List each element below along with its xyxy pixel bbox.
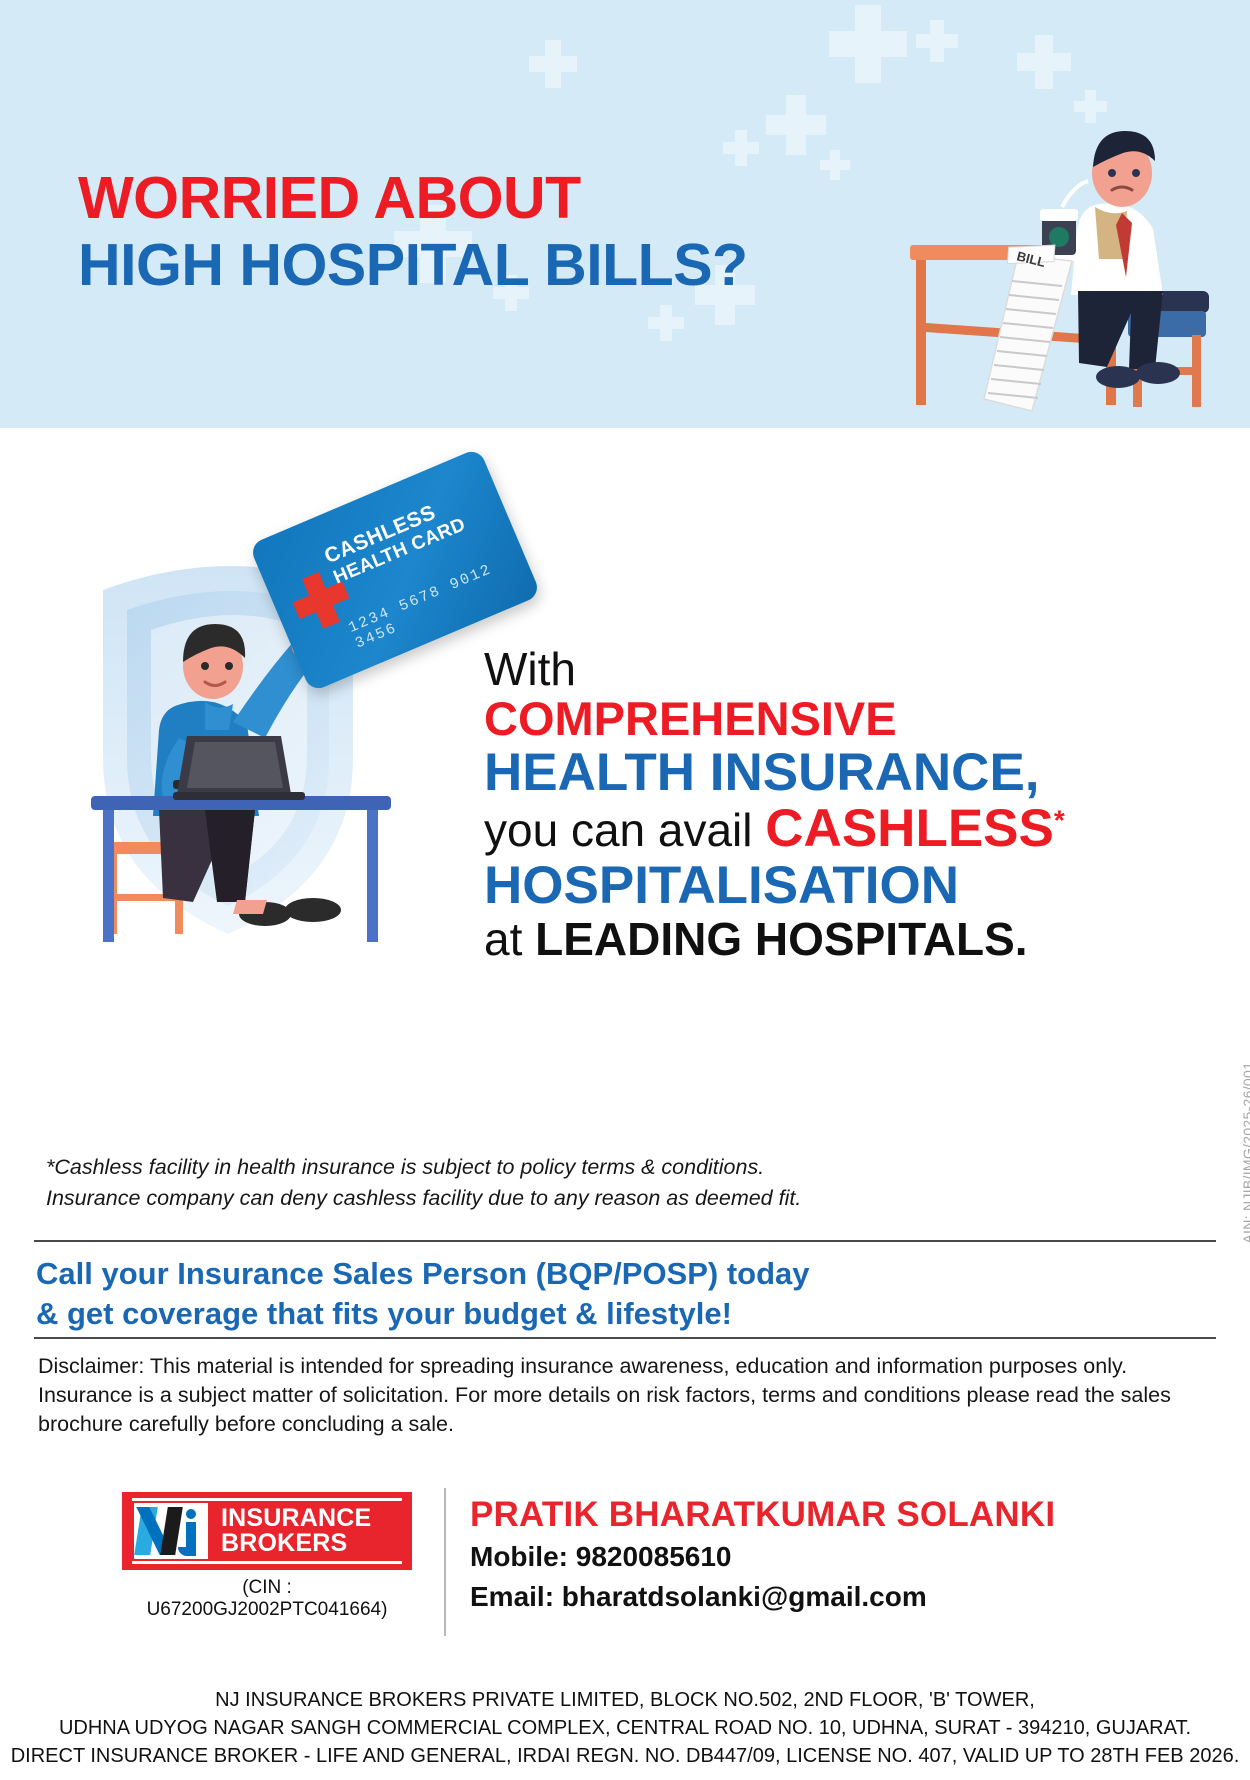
- headline-line-2: HIGH HOSPITAL BILLS?: [78, 235, 748, 296]
- cin-number: (CIN : U67200GJ2002PTC041664): [122, 1577, 412, 1621]
- agent-mobile[interactable]: Mobile: 9820085610: [470, 1539, 1190, 1576]
- message-at-text: at: [484, 913, 535, 965]
- call-to-action: Call your Insurance Sales Person (BQP/PO…: [36, 1254, 1136, 1335]
- address-line-2: UDHNA UDYOG NAGAR SANGH COMMERCIAL COMPL…: [0, 1714, 1250, 1742]
- message-at-leading-hospitals: at LEADING HOSPITALS.: [484, 915, 1104, 964]
- disclaimer-text: Disclaimer: This material is intended fo…: [38, 1352, 1218, 1438]
- cta-line-2: & get coverage that fits your budget & l…: [36, 1294, 1136, 1334]
- footnote-line-1: *Cashless facility in health insurance i…: [46, 1152, 1046, 1183]
- message-comprehensive: COMPREHENSIVE: [484, 694, 1104, 744]
- logo-text-line-1: INSURANCE: [221, 1506, 371, 1532]
- message-health-insurance: HEALTH INSURANCE,: [484, 745, 1104, 802]
- divider-above-cta: [34, 1240, 1216, 1242]
- header-banner: BILL WORRIED ABOUT HIGH HOSPITAL BILLS?: [0, 0, 1250, 428]
- headline-line-1: WORRIED ABOUT: [78, 168, 748, 229]
- footnote-line-2: Insurance company can deny cashless faci…: [46, 1183, 1046, 1214]
- message-with: With: [484, 645, 1104, 694]
- message-you-can-avail-cashless: you can avail CASHLESS*: [484, 801, 1104, 858]
- message-cashless: CASHLESS: [765, 799, 1054, 858]
- contact-vertical-divider: [444, 1488, 446, 1636]
- logo-text-line-2: BROKERS: [221, 1531, 371, 1557]
- divider-above-disclaimer: [34, 1337, 1216, 1339]
- message-asterisk: *: [1054, 805, 1065, 836]
- man-with-laptop-shield-illustration: CASHLESS HEALTH CARD 1234 5678 9012 3456: [55, 470, 475, 990]
- worried-man-with-bill-illustration: BILL: [890, 95, 1220, 425]
- ain-code-vertical: AIN: NJIB/IMG/2025-26/001: [1240, 1062, 1250, 1244]
- address-line-3: DIRECT INSURANCE BROKER - LIFE AND GENER…: [0, 1742, 1250, 1770]
- address-line-1: NJ INSURANCE BROKERS PRIVATE LIMITED, BL…: [0, 1686, 1250, 1714]
- main-message: With COMPREHENSIVE HEALTH INSURANCE, you…: [484, 645, 1104, 964]
- nj-logo-block: INSURANCE BROKERS (CIN : U67200GJ2002PTC…: [122, 1492, 412, 1621]
- agent-name: PRATIK BHARATKUMAR SOLANKI: [470, 1496, 1190, 1535]
- agent-email[interactable]: Email: bharatdsolanki@gmail.com: [470, 1579, 1190, 1616]
- cta-line-1: Call your Insurance Sales Person (BQP/PO…: [36, 1254, 1136, 1294]
- cashless-footnote: *Cashless facility in health insurance i…: [46, 1152, 1046, 1213]
- agent-contact-block: PRATIK BHARATKUMAR SOLANKI Mobile: 98200…: [470, 1496, 1190, 1616]
- page-headline: WORRIED ABOUT HIGH HOSPITAL BILLS?: [78, 168, 748, 296]
- nj-monogram-icon: [134, 1503, 208, 1559]
- company-address: NJ INSURANCE BROKERS PRIVATE LIMITED, BL…: [0, 1686, 1250, 1770]
- message-leading-hospitals: LEADING HOSPITALS.: [535, 913, 1027, 965]
- message-avail-text: you can avail: [484, 804, 765, 856]
- nj-insurance-brokers-logo: INSURANCE BROKERS: [122, 1492, 412, 1570]
- message-hospitalisation: HOSPITALISATION: [484, 858, 1104, 915]
- logo-wordmark: INSURANCE BROKERS: [221, 1506, 371, 1557]
